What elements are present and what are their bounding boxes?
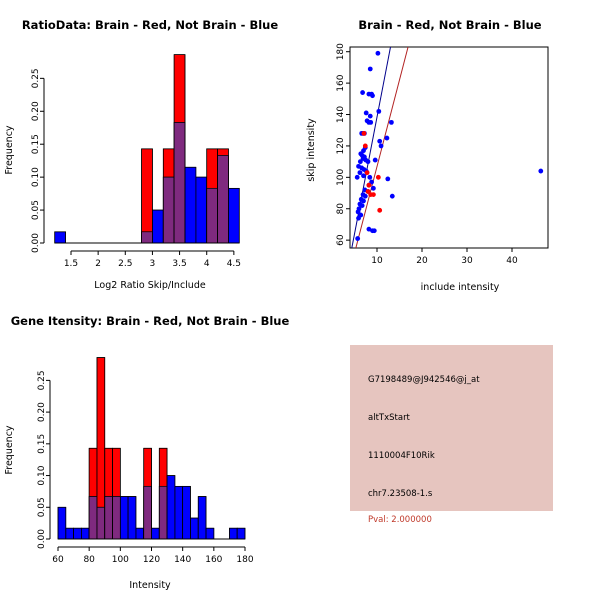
- y-tick-label: 0.05: [37, 497, 47, 517]
- y-tick-label: 0.20: [31, 101, 41, 121]
- x-tick-label: 80: [83, 555, 95, 565]
- y-tick-label: 0.25: [37, 370, 47, 390]
- ratio-y-axis-label: Frequency: [4, 125, 15, 174]
- scatter-point: [390, 194, 395, 199]
- scatter-point: [538, 169, 543, 174]
- x-tick-label: 4.5: [227, 259, 241, 269]
- ratio-histogram-svg: RatioData: Brain - Red, Not Brain - Blue…: [0, 0, 300, 300]
- scatter-point: [372, 228, 377, 233]
- gene-x-axis-label: Intensity: [129, 580, 171, 591]
- scatter-point: [373, 158, 378, 163]
- scatter-point: [377, 208, 382, 213]
- y-tick-label: 0.00: [31, 233, 41, 253]
- scatter-point: [358, 170, 363, 175]
- scatter-point: [366, 159, 371, 164]
- gene-info-box: G7198489@J942546@j_at altTxStart 1110004…: [350, 345, 553, 511]
- scatter-point: [355, 236, 360, 241]
- scatter-point: [371, 186, 376, 191]
- y-tick-label: 160: [336, 74, 346, 91]
- scatter-point: [363, 144, 368, 149]
- scatter-point: [361, 198, 366, 203]
- x-tick-label: 10: [371, 256, 383, 266]
- gene-panel-title: Gene Itensity: Brain - Red, Not Brain - …: [11, 314, 290, 328]
- gene-intensity-svg: Gene Itensity: Brain - Red, Not Brain - …: [0, 300, 300, 600]
- scatter-plot-area: 608010012014016018010203040: [336, 43, 548, 266]
- ratio-panel-title: RatioData: Brain - Red, Not Brain - Blue: [22, 18, 279, 32]
- scatter-point: [370, 93, 375, 98]
- y-tick-label: 0.25: [31, 68, 41, 88]
- scatter-point: [371, 192, 376, 197]
- scatter-point: [362, 131, 367, 136]
- pval-text: Pval: 2.000000: [368, 515, 432, 525]
- ratio-plot-area: 0.000.050.100.150.200.251.522.533.544.5: [31, 55, 241, 269]
- gene-symbol-text: 1110004F10Rik: [368, 451, 435, 461]
- x-tick-label: 4: [204, 259, 210, 269]
- scatter-point: [368, 67, 373, 72]
- y-tick-label: 0.10: [31, 167, 41, 187]
- scatter-point: [368, 114, 373, 119]
- x-tick-label: 30: [461, 256, 473, 266]
- y-tick-label: 80: [336, 203, 346, 215]
- y-tick-label: 140: [336, 106, 346, 123]
- scatter-point: [385, 136, 390, 141]
- y-tick-label: 100: [336, 168, 346, 185]
- scatter-point: [385, 177, 390, 182]
- scatter-point: [360, 90, 365, 95]
- x-tick-label: 3.5: [172, 259, 186, 269]
- y-tick-label: 0.15: [31, 134, 41, 154]
- probe-id-text: G7198489@J942546@j_at: [368, 375, 480, 385]
- x-tick-label: 100: [112, 555, 129, 565]
- scatter-point: [376, 51, 381, 56]
- y-tick-label: 180: [336, 43, 346, 60]
- x-tick-label: 2: [95, 259, 101, 269]
- ratio-histogram-panel: RatioData: Brain - Red, Not Brain - Blue…: [0, 0, 300, 300]
- scatter-point: [376, 109, 381, 114]
- y-tick-label: 120: [336, 137, 346, 154]
- y-tick-label: 0.10: [37, 465, 47, 485]
- scatter-point: [358, 159, 363, 164]
- x-tick-label: 180: [236, 555, 253, 565]
- x-tick-label: 120: [143, 555, 160, 565]
- x-tick-label: 20: [416, 256, 428, 266]
- y-tick-label: 0.15: [37, 434, 47, 454]
- intensity-scatter-panel: Brain - Red, Not Brain - Blue skip inten…: [300, 0, 600, 300]
- scatter-x-axis-label: include intensity: [421, 282, 500, 293]
- ratio-x-axis-label: Log2 Ratio Skip/Include: [94, 280, 206, 291]
- intensity-scatter-svg: Brain - Red, Not Brain - Blue skip inten…: [300, 0, 600, 300]
- event-type-text: altTxStart: [368, 413, 410, 423]
- x-tick-label: 2.5: [118, 259, 132, 269]
- gene-plot-area: 0.000.050.100.150.200.256080100120140160…: [37, 358, 254, 565]
- scatter-point: [389, 120, 394, 125]
- scatter-panel-title: Brain - Red, Not Brain - Blue: [358, 18, 541, 32]
- x-tick-label: 1.5: [64, 259, 78, 269]
- gene-intensity-panel: Gene Itensity: Brain - Red, Not Brain - …: [0, 300, 300, 600]
- x-tick-label: 160: [205, 555, 222, 565]
- scatter-y-axis-label: skip intensity: [306, 118, 317, 182]
- y-tick-label: 0.00: [37, 529, 47, 549]
- scatter-point: [356, 216, 361, 221]
- scatter-point: [379, 144, 384, 149]
- scatter-point: [365, 170, 370, 175]
- gene-info-panel: G7198489@J942546@j_at altTxStart 1110004…: [300, 300, 600, 600]
- gene-y-axis-label: Frequency: [4, 425, 15, 474]
- x-tick-label: 60: [52, 555, 64, 565]
- scatter-point: [368, 120, 373, 125]
- scatter-point: [377, 139, 382, 144]
- y-tick-label: 0.05: [31, 200, 41, 220]
- scatter-point: [355, 175, 360, 180]
- scatter-point: [364, 111, 369, 116]
- x-tick-label: 3: [150, 259, 156, 269]
- x-tick-label: 140: [174, 555, 191, 565]
- scatter-point: [363, 194, 368, 199]
- locus-text: chr7.23508-1.s: [368, 489, 432, 499]
- scatter-point: [367, 175, 372, 180]
- x-tick-label: 40: [506, 256, 518, 266]
- y-tick-label: 0.20: [37, 402, 47, 422]
- scatter-point: [367, 183, 372, 188]
- scatter-point: [361, 173, 366, 178]
- scatter-point: [376, 175, 381, 180]
- y-tick-label: 60: [336, 234, 346, 246]
